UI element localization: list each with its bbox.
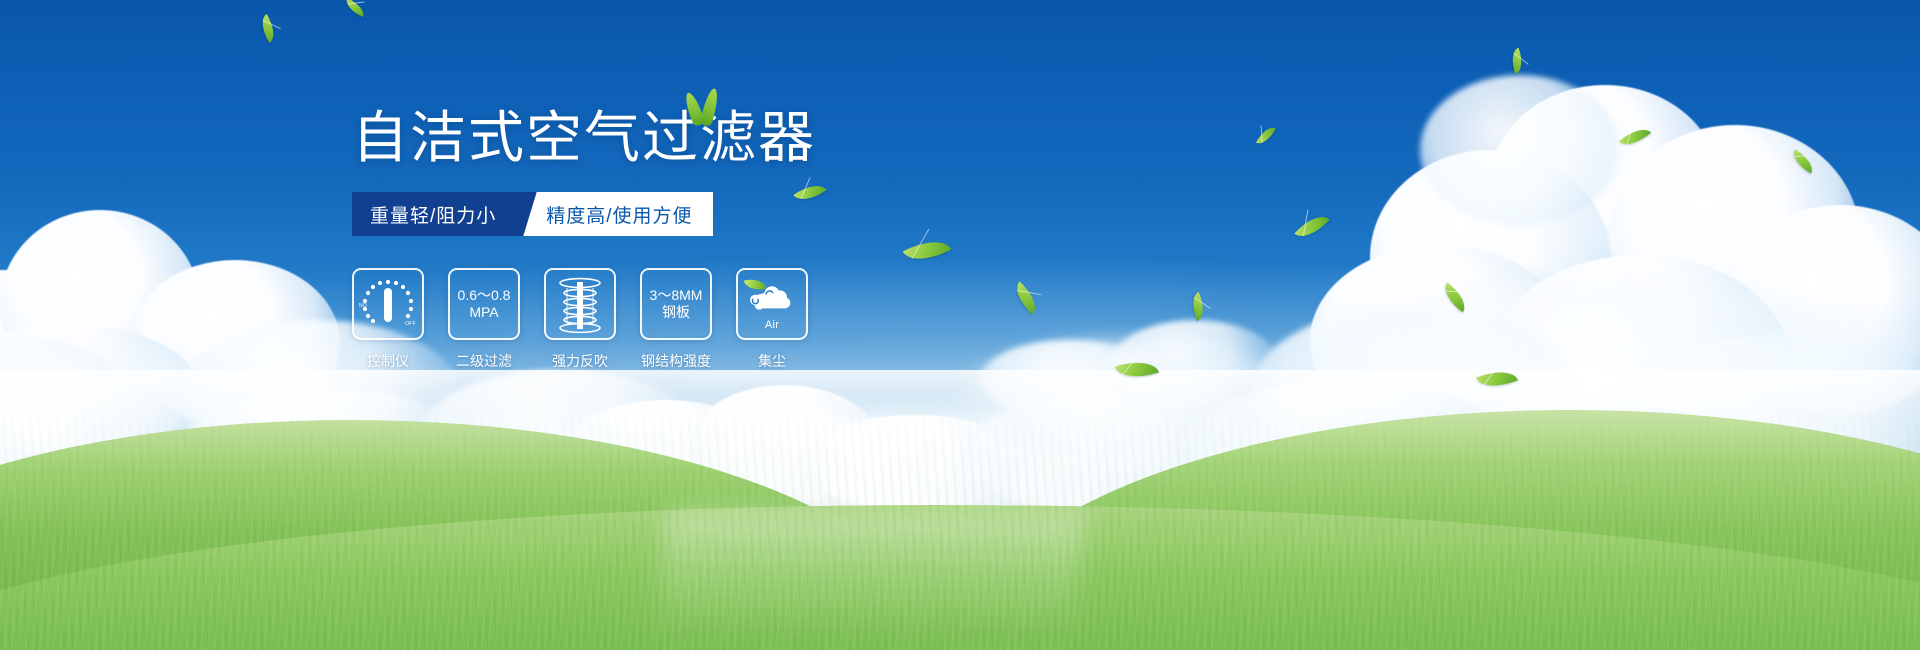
feature-list: NO OFF 控制仪 0.6～0.8 MPA 二级过滤 [352, 268, 808, 371]
feature-item-dust-collection[interactable]: Air 集尘 [736, 268, 808, 371]
dial-label-off: OFF [405, 321, 416, 327]
steel-plate-icon: 3～8MM 钢板 [650, 287, 703, 321]
dial-label-no: NO [359, 303, 367, 309]
tag-precision-convenience[interactable]: 精度高/使用方便 [516, 192, 712, 236]
pressure-unit: MPA [458, 304, 511, 321]
dial-needle [384, 288, 392, 322]
feature-label: 二级过滤 [456, 351, 512, 371]
pressure-range: 0.6～0.8 [458, 287, 511, 304]
tag-bar: 重量轻/阻力小 精度高/使用方便 [352, 192, 713, 236]
pressure-value-icon: 0.6～0.8 MPA [458, 287, 511, 321]
feature-card: Air [736, 268, 808, 340]
air-cloud-icon: Air [743, 280, 801, 328]
dial-gauge-icon: NO OFF [360, 277, 416, 331]
feature-item-steel-strength[interactable]: 3～8MM 钢板 钢结构强度 [640, 268, 712, 371]
feature-card: 3～8MM 钢板 [640, 268, 712, 340]
steel-thickness: 3～8MM [650, 287, 703, 304]
feature-label: 钢结构强度 [641, 351, 711, 371]
feature-item-filter-stage[interactable]: 0.6～0.8 MPA 二级过滤 [448, 268, 520, 371]
steel-material: 钢板 [650, 304, 703, 321]
feature-label: 集尘 [758, 351, 786, 371]
tag-label: 重量轻/阻力小 [370, 201, 496, 228]
feature-label: 控制仪 [367, 351, 409, 371]
filter-coil-icon [554, 275, 606, 333]
page-title: 自洁式空气过滤器 [352, 110, 816, 166]
feature-item-backblow[interactable]: 强力反吹 [544, 268, 616, 371]
feature-item-controller[interactable]: NO OFF 控制仪 [352, 268, 424, 371]
feature-card [544, 268, 616, 340]
feature-card: NO OFF [352, 268, 424, 340]
feature-card: 0.6～0.8 MPA [448, 268, 520, 340]
banner-content: 自洁式空气过滤器 重量轻/阻力小 精度高/使用方便 [0, 0, 1920, 650]
leaf-decoration-icon [682, 88, 726, 128]
air-label: Air [743, 319, 801, 331]
hero-banner: 自洁式空气过滤器 重量轻/阻力小 精度高/使用方便 [0, 0, 1920, 650]
tag-label: 精度高/使用方便 [546, 201, 692, 228]
tag-weight-resistance[interactable]: 重量轻/阻力小 [352, 192, 518, 236]
feature-label: 强力反吹 [552, 351, 608, 371]
title-block: 自洁式空气过滤器 [352, 110, 816, 166]
